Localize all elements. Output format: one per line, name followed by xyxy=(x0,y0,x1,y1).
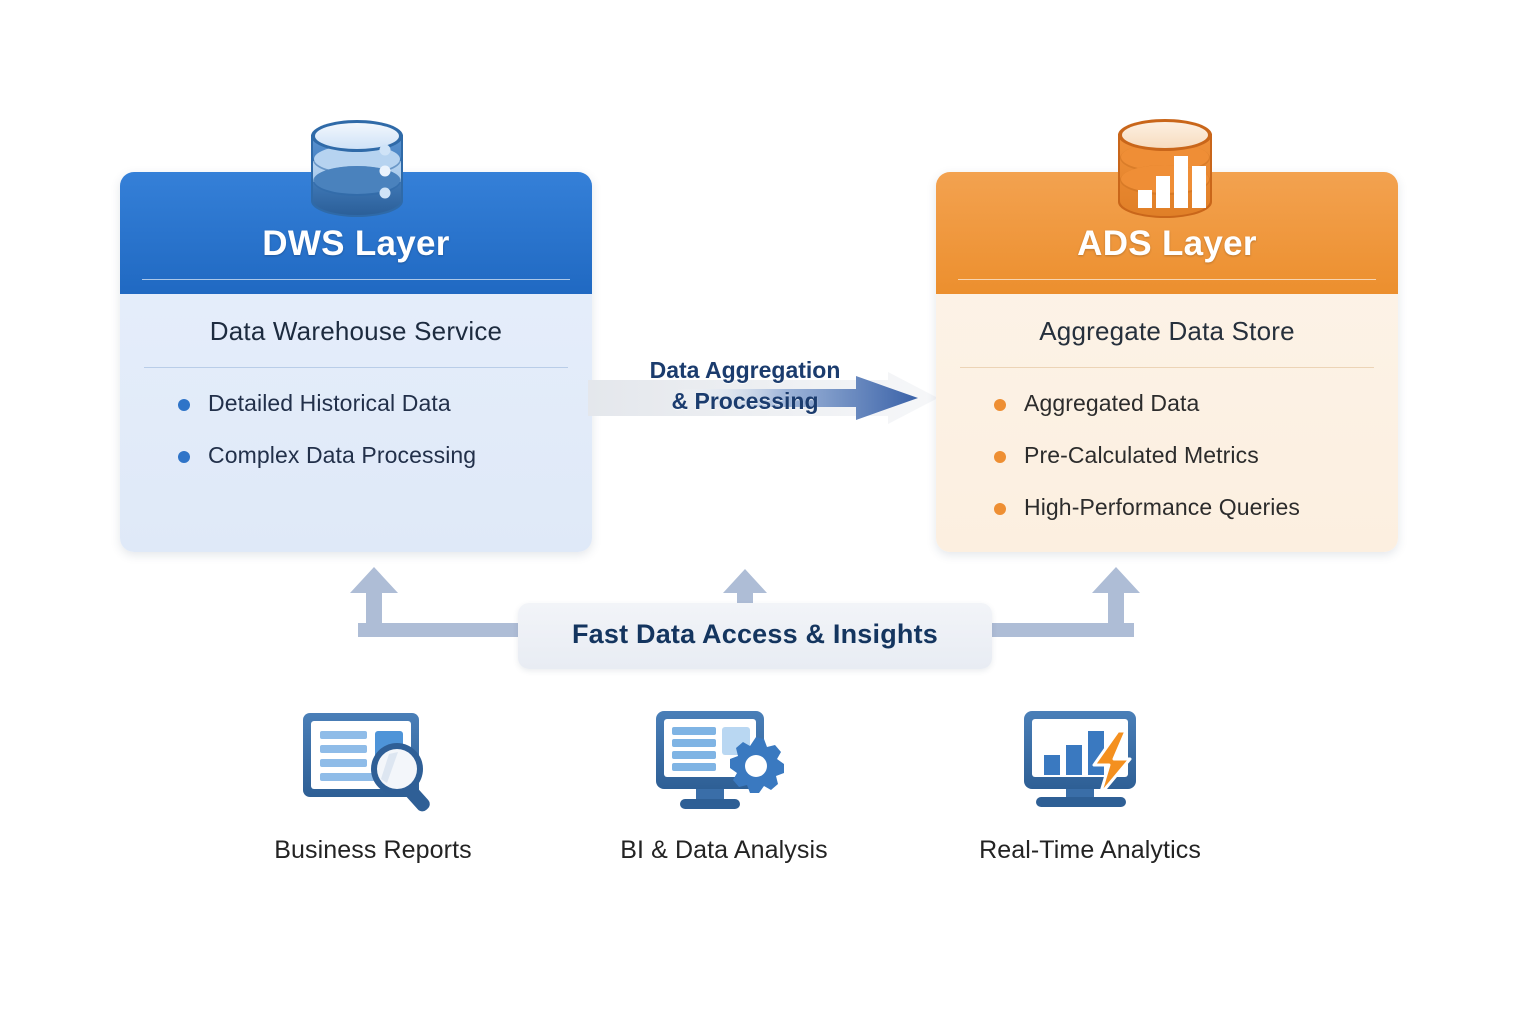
consumer-business-reports[interactable]: Business Reports xyxy=(243,706,503,865)
consumer-real-time-analytics[interactable]: Real-Time Analytics xyxy=(960,706,1220,865)
flow-label-line-2: & Processing xyxy=(600,386,890,417)
dws-title: DWS Layer xyxy=(120,224,592,264)
ads-layer-card[interactable]: ADS Layer Aggregate Data Store Aggregate… xyxy=(936,172,1398,552)
database-chart-cylinder-icon xyxy=(1110,116,1220,227)
access-label: Fast Data Access & Insights xyxy=(518,619,992,650)
ads-title: ADS Layer xyxy=(936,224,1398,264)
consumer-bi-data-analysis[interactable]: BI & Data Analysis xyxy=(594,706,854,865)
ads-feature-list: Aggregated Data Pre-Calculated Metrics H… xyxy=(936,368,1398,521)
list-item: Aggregated Data xyxy=(994,390,1398,417)
list-item: High-Performance Queries xyxy=(994,494,1398,521)
database-cylinder-icon xyxy=(303,117,411,226)
list-item: Complex Data Processing xyxy=(178,442,592,469)
monitor-chart-bolt-icon xyxy=(960,706,1220,814)
consumer-label: Business Reports xyxy=(243,836,503,865)
consumer-label: Real-Time Analytics xyxy=(960,836,1220,865)
ads-header-divider xyxy=(958,279,1376,280)
dws-layer-card[interactable]: DWS Layer Data Warehouse Service Detaile… xyxy=(120,172,592,552)
dws-feature-list: Detailed Historical Data Complex Data Pr… xyxy=(120,368,592,469)
list-item: Pre-Calculated Metrics xyxy=(994,442,1398,469)
monitor-gear-icon xyxy=(594,706,854,814)
dws-header-divider xyxy=(142,279,570,280)
dws-subtitle: Data Warehouse Service xyxy=(120,294,592,347)
ads-subtitle: Aggregate Data Store xyxy=(936,294,1398,347)
flow-label-line-1: Data Aggregation xyxy=(600,355,890,386)
consumer-label: BI & Data Analysis xyxy=(594,836,854,865)
data-flow-label: Data Aggregation & Processing xyxy=(600,355,890,417)
report-magnifier-icon xyxy=(243,706,503,814)
list-item: Detailed Historical Data xyxy=(178,390,592,417)
diagram-canvas: DWS Layer Data Warehouse Service Detaile… xyxy=(0,0,1536,1024)
